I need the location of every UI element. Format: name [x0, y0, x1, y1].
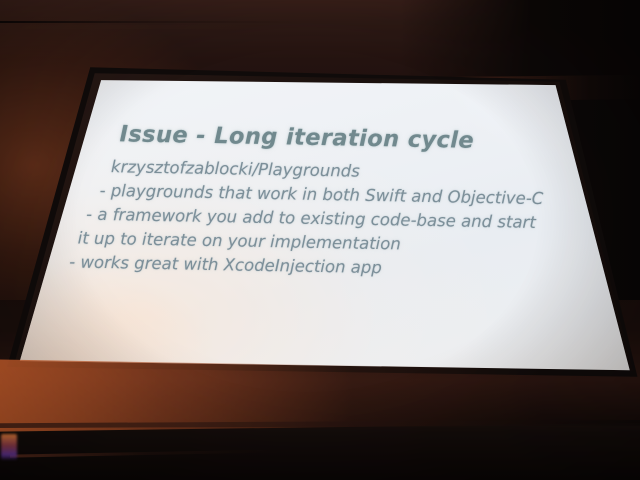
slide-title: Issue - Long iteration cycle [119, 121, 474, 153]
ceiling-seam-line [0, 21, 300, 23]
indicator-light [1, 434, 17, 460]
slide-body: krzysztofzablocki/Playgrounds - playgrou… [0, 154, 640, 286]
slide-content: Issue - Long iteration cycle krzysztofza… [0, 54, 640, 396]
ceiling-seam-line-secondary [0, 25, 250, 29]
projector-photo-scene: Issue - Long iteration cycle krzysztofza… [0, 0, 640, 480]
